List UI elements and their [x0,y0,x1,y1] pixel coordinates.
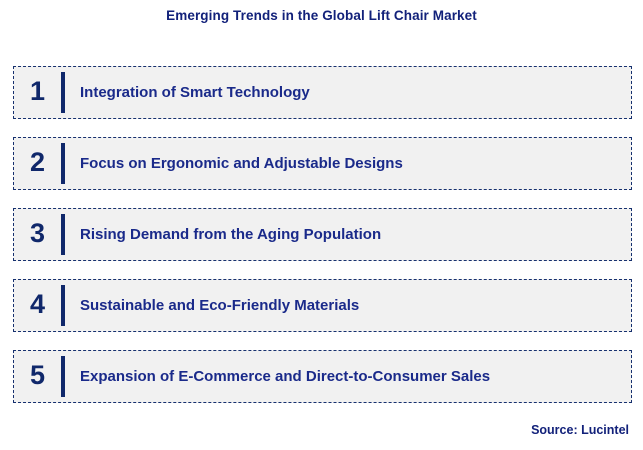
trend-list: 1 Integration of Smart Technology 2 Focu… [13,66,632,403]
trend-row-4: 4 Sustainable and Eco-Friendly Materials [13,279,632,332]
trend-label: Focus on Ergonomic and Adjustable Design… [65,155,631,172]
trend-label: Sustainable and Eco-Friendly Materials [65,297,631,314]
trend-number: 4 [14,291,61,320]
trend-row-1: 1 Integration of Smart Technology [13,66,632,119]
trend-label: Expansion of E-Commerce and Direct-to-Co… [65,368,631,385]
trend-number: 5 [14,362,61,391]
trend-row-2: 2 Focus on Ergonomic and Adjustable Desi… [13,137,632,190]
trend-row-3: 3 Rising Demand from the Aging Populatio… [13,208,632,261]
page-title: Emerging Trends in the Global Lift Chair… [0,8,643,23]
trend-number: 1 [14,78,61,107]
trend-number: 3 [14,220,61,249]
trend-number: 2 [14,149,61,178]
infographic-page: Emerging Trends in the Global Lift Chair… [0,0,643,450]
trend-row-5: 5 Expansion of E-Commerce and Direct-to-… [13,350,632,403]
trend-label: Integration of Smart Technology [65,84,631,101]
source-attribution: Source: Lucintel [531,423,629,437]
trend-label: Rising Demand from the Aging Population [65,226,631,243]
